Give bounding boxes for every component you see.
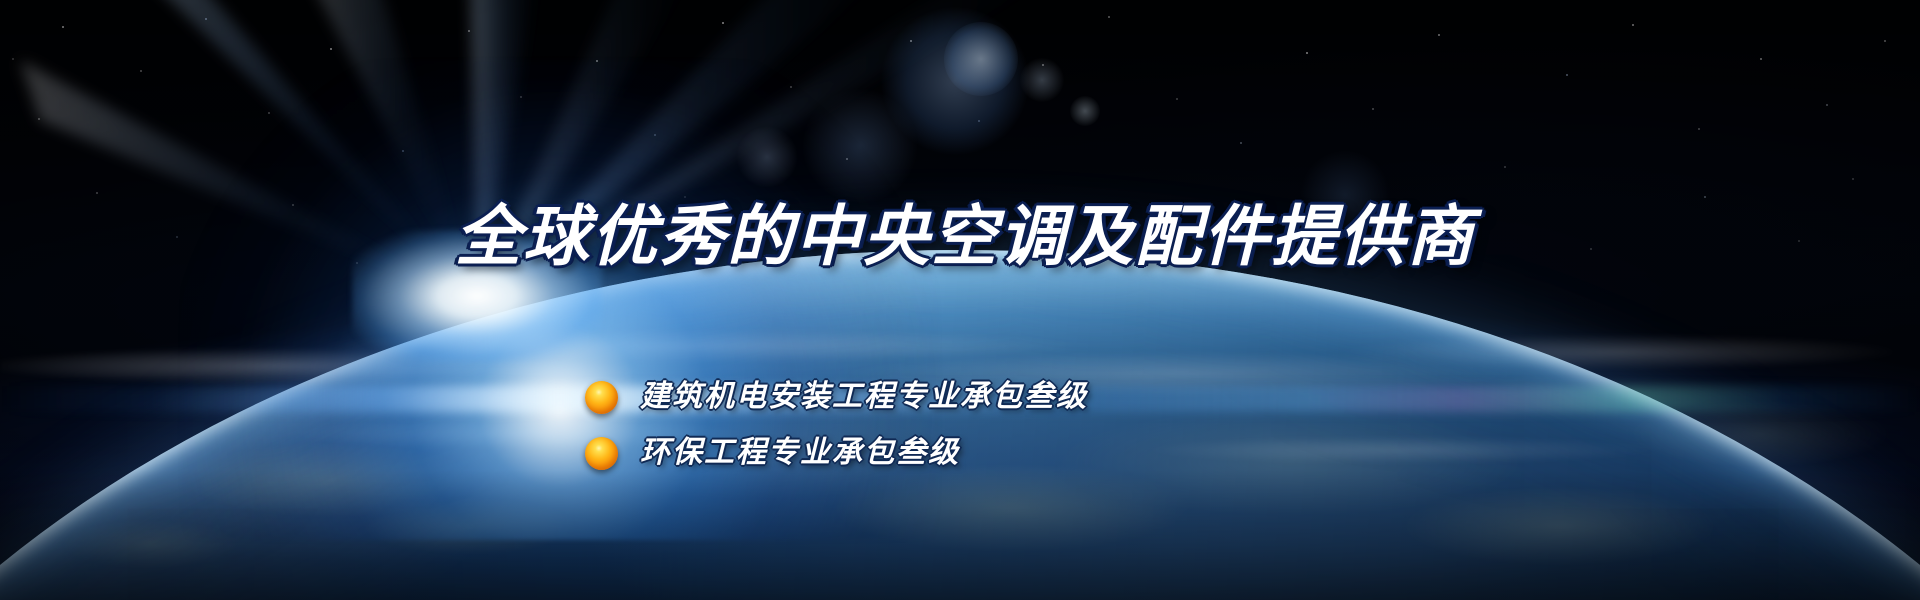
hero-banner: 全球优秀的中央空调及配件提供商 建筑机电安装工程专业承包叁级 环保工程专业承包叁… <box>0 0 1920 600</box>
orange-sphere-bullet-icon <box>585 381 618 414</box>
list-item-label: 环保工程专业承包叁级 <box>640 438 960 468</box>
list-item: 建筑机电安装工程专业承包叁级 <box>585 372 1088 422</box>
list-item: 环保工程专业承包叁级 <box>585 428 1088 478</box>
qualification-list: 建筑机电安装工程专业承包叁级 环保工程专业承包叁级 <box>585 372 1088 478</box>
banner-headline: 全球优秀的中央空调及配件提供商 <box>455 203 1475 269</box>
orange-sphere-bullet-icon <box>585 437 618 470</box>
banner-content: 全球优秀的中央空调及配件提供商 建筑机电安装工程专业承包叁级 环保工程专业承包叁… <box>0 0 1920 600</box>
list-item-label: 建筑机电安装工程专业承包叁级 <box>640 382 1088 412</box>
